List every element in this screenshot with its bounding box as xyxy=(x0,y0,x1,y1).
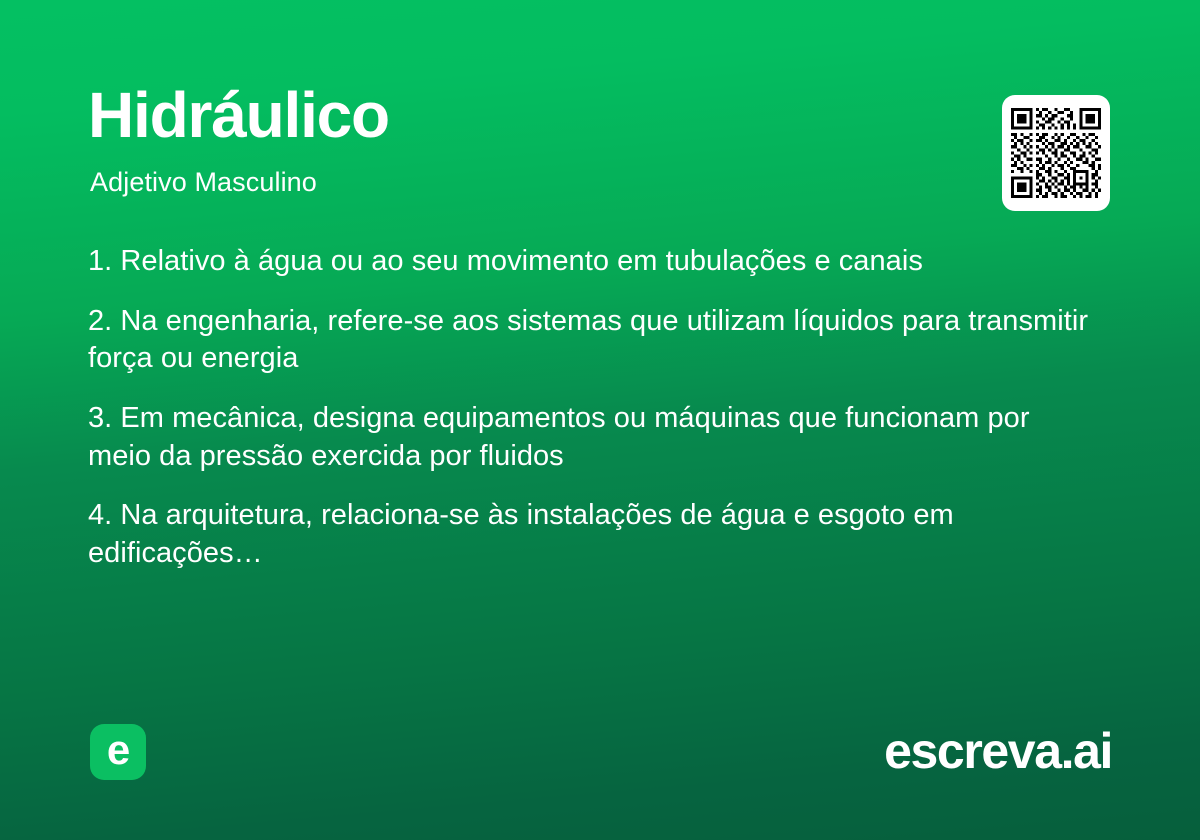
qr-code-icon xyxy=(1011,105,1101,201)
page-title: Hidráulico xyxy=(88,82,389,150)
definition-list: 1. Relativo à água ou ao seu movimento e… xyxy=(88,243,1098,573)
brand-logo: e xyxy=(90,724,146,780)
definition-item-2: 2. Na engenharia, refere-se aos sistemas… xyxy=(88,303,1098,378)
brand-logo-letter: e xyxy=(107,729,129,771)
definition-item-3: 3. Em mecânica, designa equipamentos ou … xyxy=(88,400,1098,475)
definition-item-1: 1. Relativo à água ou ao seu movimento e… xyxy=(88,243,1098,281)
definition-card: Hidráulico Adjetivo Masculino xyxy=(0,0,1200,840)
qr-code[interactable] xyxy=(1002,95,1110,211)
brand-wordmark: escreva.ai xyxy=(884,723,1112,781)
definition-item-4: 4. Na arquitetura, relaciona-se às insta… xyxy=(88,497,1098,572)
word-class-label: Adjetivo Masculino xyxy=(90,166,317,198)
